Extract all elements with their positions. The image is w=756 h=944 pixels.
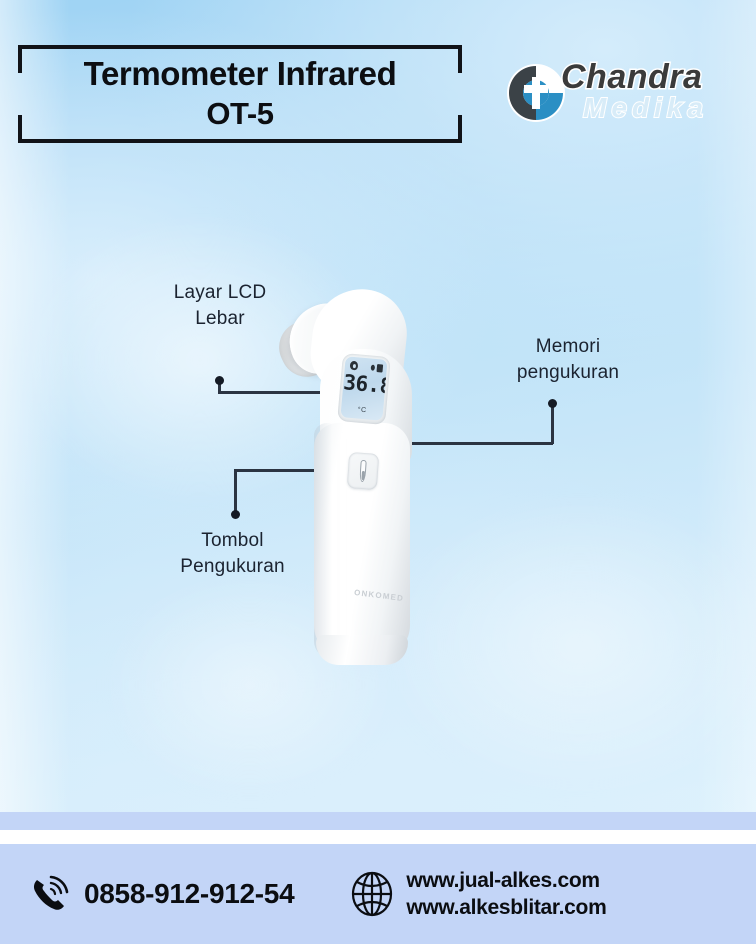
footer-accent-band bbox=[0, 812, 756, 830]
product-image-thermometer: ONKOMED 36.8 °C bbox=[268, 283, 428, 663]
callout-label-memori: Memori pengukuran bbox=[468, 334, 668, 386]
website-list: www.jual-alkes.com www.alkesblitar.com bbox=[406, 867, 606, 921]
title-frame: Termometer Infrared OT-5 bbox=[18, 45, 462, 143]
thermometer-icon bbox=[359, 460, 367, 482]
website-link-2[interactable]: www.alkesblitar.com bbox=[406, 894, 606, 921]
measure-button[interactable] bbox=[347, 452, 379, 490]
ear-mode-icon bbox=[350, 361, 359, 371]
phone-number: 0858-912-912-54 bbox=[84, 878, 294, 910]
lcd-temperature-value: 36.8 bbox=[342, 370, 386, 398]
lcd-screen: 36.8 °C bbox=[340, 356, 387, 420]
globe-icon bbox=[350, 871, 394, 917]
leader-line-tombol-vertical bbox=[234, 469, 237, 513]
leader-dot-tombol bbox=[231, 510, 240, 519]
device-base bbox=[316, 635, 408, 665]
contact-phone[interactable]: 0858-912-912-54 bbox=[26, 871, 294, 917]
poster-canvas: Termometer Infrared OT-5 Chandra Medika … bbox=[0, 0, 756, 944]
product-title-line-1: Termometer Infrared bbox=[84, 55, 397, 93]
brand-name-secondary: Medika bbox=[583, 92, 708, 124]
brand-logo: Chandra Medika bbox=[505, 54, 735, 134]
leader-dot-lcd bbox=[215, 376, 224, 385]
battery-icon bbox=[376, 364, 383, 372]
leader-line-memori-vertical bbox=[551, 406, 554, 444]
footer-divider bbox=[0, 830, 756, 844]
lcd-temperature-unit: °C bbox=[341, 405, 383, 416]
contact-websites[interactable]: www.jual-alkes.com www.alkesblitar.com bbox=[350, 867, 606, 921]
leader-dot-memori bbox=[548, 399, 557, 408]
website-link-1[interactable]: www.jual-alkes.com bbox=[406, 867, 606, 894]
product-model-code: OT-5 bbox=[206, 95, 273, 133]
medical-cross-c-logo-icon bbox=[505, 62, 567, 124]
brand-wordmark: Chandra Medika bbox=[561, 58, 739, 130]
signal-icon bbox=[371, 365, 376, 371]
device-body-shadow bbox=[314, 423, 332, 659]
footer-bar: 0858-912-912-54 www.jual-alkes.com www.a… bbox=[0, 844, 756, 944]
phone-ringing-icon bbox=[26, 871, 72, 917]
page-title: Termometer Infrared OT-5 bbox=[18, 45, 462, 143]
